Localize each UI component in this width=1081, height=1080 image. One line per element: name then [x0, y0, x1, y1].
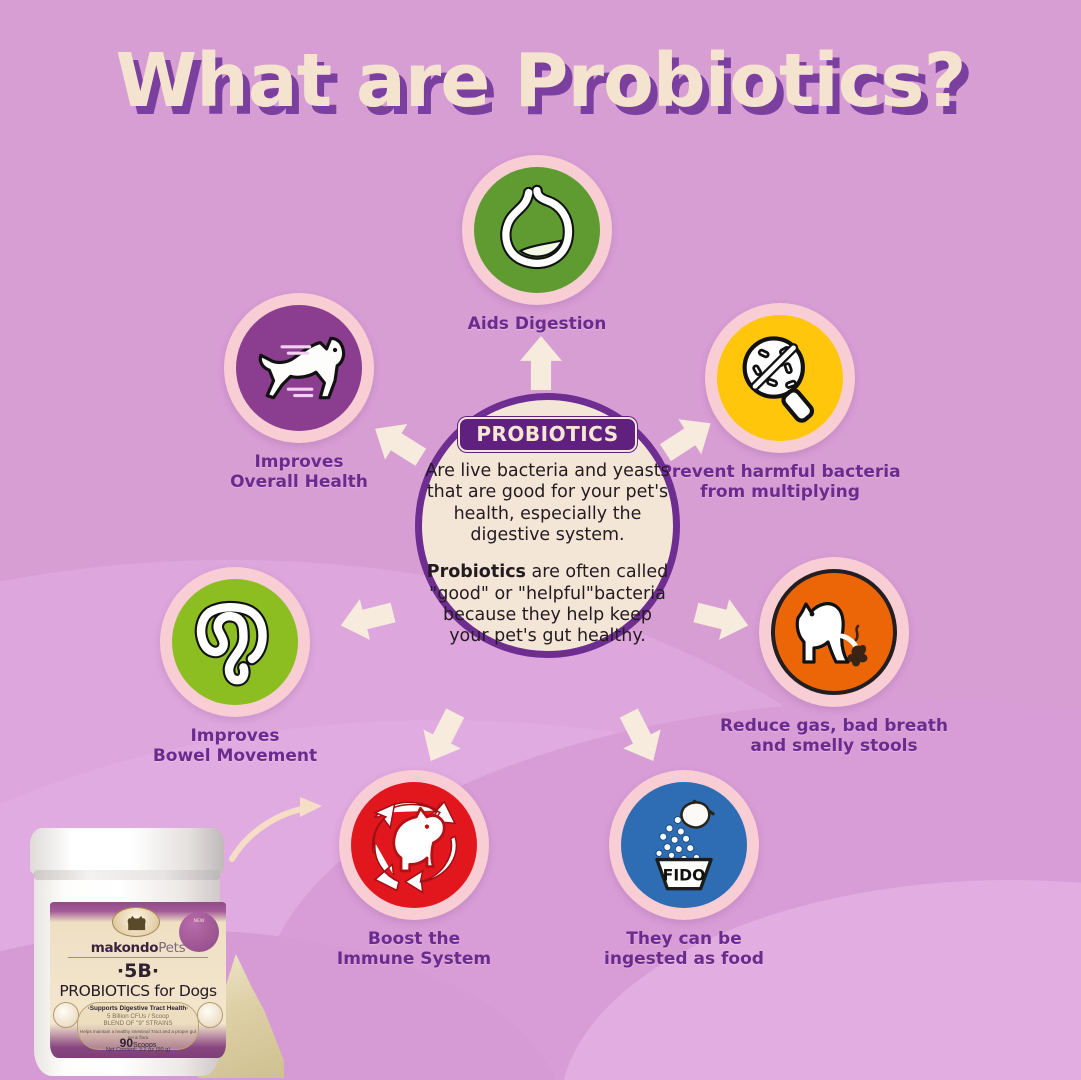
- jar-burst-text: NEW: [194, 919, 205, 924]
- jar-product-name: PROBIOTICS for Dogs: [50, 982, 226, 1000]
- stomach-icon: [485, 178, 589, 282]
- jar-lid: [30, 828, 224, 874]
- node-label-line-1: Boost the: [368, 929, 460, 949]
- center-paragraph-1: Are live bacteria and yeasts that are go…: [422, 461, 674, 546]
- jar-body: NEW makondoPets ·5B· PROBIOTICS for Dogs…: [34, 846, 220, 1076]
- node-label: Improves Bowel Movement: [122, 727, 348, 766]
- node-disc: [236, 305, 362, 431]
- seal-dog-icon: [123, 913, 149, 933]
- center-paragraph-2-bold: Probiotics: [427, 562, 526, 582]
- node-label: Reduce gas, bad breath and smelly stools: [704, 717, 964, 756]
- running-dog-icon: [246, 315, 352, 421]
- node-ring: [705, 303, 855, 453]
- bowl-name-text: FIDO: [663, 866, 706, 884]
- jar-brand: makondoPets: [50, 940, 226, 956]
- node-disc: [351, 782, 477, 908]
- jar-seal-emblem: [112, 907, 160, 937]
- node-label: Boost the Immune System: [311, 930, 517, 969]
- node-label-line-1: Aids Digestion: [468, 314, 607, 334]
- jar-badge-left: [53, 1002, 79, 1028]
- node-label: Aids Digestion: [432, 315, 642, 335]
- node-label-line-2: and smelly stools: [750, 736, 917, 756]
- dog-pooping-icon: [784, 582, 884, 682]
- page-title: What are Probiotics?: [0, 38, 1081, 124]
- dog-cycle-arrows-icon: [360, 791, 468, 899]
- intestine-icon: [182, 589, 288, 695]
- node-ring: [759, 557, 909, 707]
- node-disc: [771, 569, 897, 695]
- magnifier-no-bacteria-icon: [728, 326, 832, 430]
- node-label: Improves Overall Health: [191, 453, 407, 492]
- node-reduce-gas[interactable]: Reduce gas, bad breath and smelly stools: [759, 557, 909, 756]
- node-ring: [224, 293, 374, 443]
- jar-claim-3: BLEND OF "9" STRAINS: [78, 1020, 198, 1027]
- node-label-line-2: Immune System: [337, 949, 491, 969]
- node-label-line-1: Prevent harmful bacteria: [659, 462, 900, 482]
- node-disc: [474, 167, 600, 293]
- node-aids-digestion[interactable]: Aids Digestion: [462, 155, 612, 335]
- node-label-line-1: Reduce gas, bad breath: [720, 716, 948, 736]
- infographic-canvas: What are Probiotics? PROBIOTICS Are live…: [0, 0, 1081, 1080]
- node-label: They can be ingested as food: [581, 930, 787, 969]
- jar-net-content: Net Content: 3.2 oz (90 g): [50, 1047, 226, 1053]
- jar-claim-1: ·Supports Digestive Tract Health·: [78, 1005, 198, 1012]
- node-label-line-1: Improves: [190, 726, 279, 746]
- node-ring: [160, 567, 310, 717]
- node-boost-immune-system[interactable]: Boost the Immune System: [339, 770, 489, 969]
- jar-badge-right: [197, 1002, 223, 1028]
- jar-claim-2: 5 Billion CFUs / Scoop: [78, 1013, 198, 1020]
- node-ring: [339, 770, 489, 920]
- jar-lid-lip: [34, 870, 220, 880]
- node-disc: FIDO: [621, 782, 747, 908]
- node-ingested-as-food[interactable]: FIDO They can be ingested as food: [609, 770, 759, 969]
- scoop-into-bowl-icon: FIDO: [632, 793, 736, 897]
- product-jar[interactable]: NEW makondoPets ·5B· PROBIOTICS for Dogs…: [22, 828, 240, 1080]
- jar-label: NEW makondoPets ·5B· PROBIOTICS for Dogs…: [50, 902, 226, 1058]
- node-label: Prevent harmful bacteria from multiplyin…: [643, 463, 917, 502]
- center-body-text: Are live bacteria and yeasts that are go…: [422, 461, 674, 648]
- node-label-line-2: Bowel Movement: [153, 746, 317, 766]
- node-label-line-1: Improves: [254, 452, 343, 472]
- node-disc: [717, 315, 843, 441]
- node-disc: [172, 579, 298, 705]
- node-label-line-2: Overall Health: [230, 472, 368, 492]
- center-definition-circle: PROBIOTICS Are live bacteria and yeasts …: [415, 393, 680, 658]
- node-label-line-2: ingested as food: [604, 949, 764, 969]
- node-prevent-harmful-bacteria[interactable]: Prevent harmful bacteria from multiplyin…: [705, 303, 855, 502]
- node-improves-bowel-movement[interactable]: Improves Bowel Movement: [160, 567, 310, 766]
- product-pointer-arrow: [228, 795, 338, 865]
- node-improves-overall-health[interactable]: Improves Overall Health: [224, 293, 374, 492]
- center-paragraph-2: Probiotics are often called "good" or "h…: [422, 562, 674, 647]
- node-label-line-2: from multiplying: [700, 482, 860, 502]
- node-label-line-1: They can be: [626, 929, 742, 949]
- center-badge-label: PROBIOTICS: [458, 417, 636, 452]
- node-ring: [462, 155, 612, 305]
- node-ring: FIDO: [609, 770, 759, 920]
- jar-brand-light: Pets: [158, 940, 185, 956]
- jar-brand-bold: makondo: [91, 940, 159, 956]
- jar-divider: [68, 957, 208, 958]
- jar-potency: ·5B·: [50, 960, 226, 982]
